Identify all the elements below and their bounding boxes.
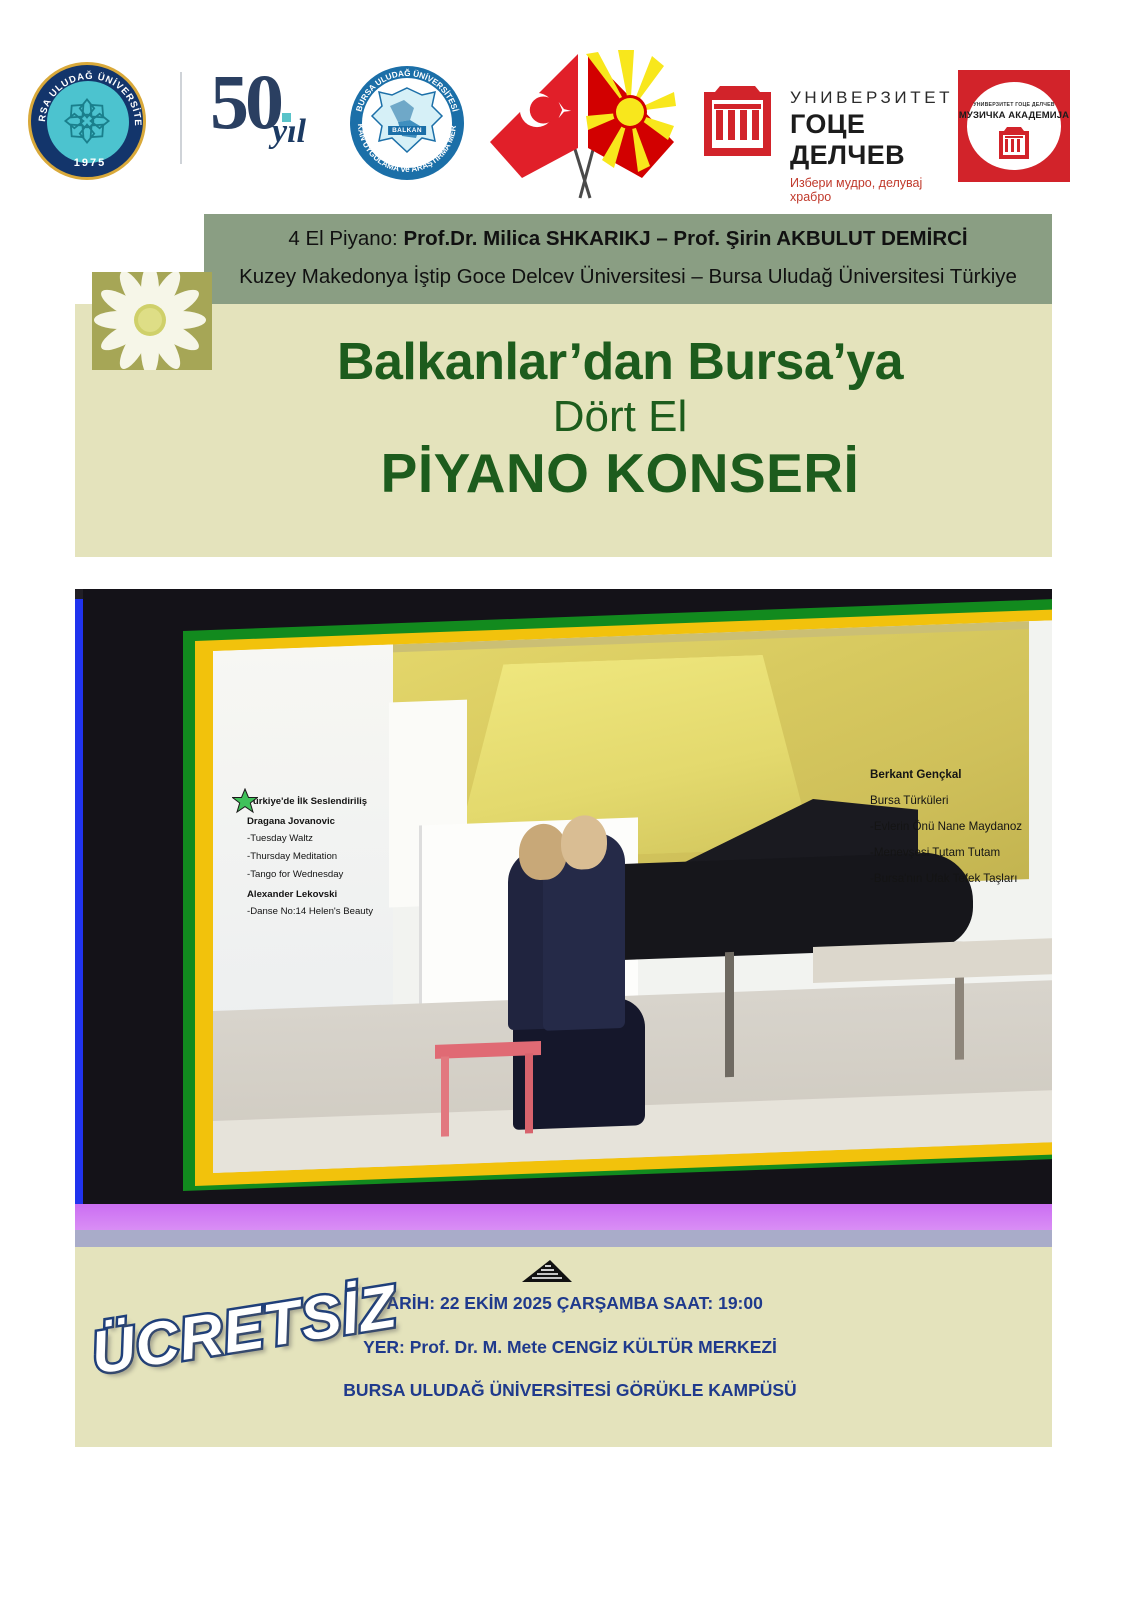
daisy-flower-icon — [92, 272, 212, 370]
composer-1-name: Dragana Jovanovic — [247, 813, 477, 831]
composer-1-work-1: -Tuesday Waltz — [247, 830, 477, 848]
performers-prefix: 4 El Piyano: — [288, 227, 403, 250]
program-left: Türkiye'de İlk Seslendiriliş Dragana Jov… — [247, 793, 477, 921]
logo-bar: BURSA ULUDAĞ ÜNİVERSİTESİ — [0, 0, 1131, 210]
composer-1-work-3: -Tango for Wednesday — [247, 866, 477, 884]
turkey-north-macedonia-flags-icon — [482, 50, 682, 200]
page-title: Balkanlar’dan Bursa’ya Dört El PİYANO KO… — [205, 334, 1035, 504]
mountain-logo-icon — [512, 1258, 574, 1284]
photo-glitch-bar-violet — [75, 1204, 1052, 1230]
composer-2-name: Alexander Lekovski — [247, 886, 477, 904]
50-yil-anniversary-logo: 50 50 yıl — [210, 68, 350, 180]
title-line-3: PİYANO KONSERİ — [205, 443, 1035, 504]
goce-delcev-building-icon — [700, 80, 775, 168]
gd-line-name: ГОЦЕ ДЕЛЧЕВ — [790, 109, 950, 171]
gd-line-universitet: УНИВЕРЗИТЕТ — [790, 88, 950, 108]
fifty-dot-icon — [282, 113, 291, 122]
composer-2-work-1: -Danse No:14 Helen's Beauty — [247, 903, 477, 921]
title-line-1: Balkanlar’dan Bursa’ya — [205, 334, 1035, 390]
performers-names: Prof.Dr. Milica SHKARIKJ – Prof. Şirin A… — [403, 227, 967, 250]
collection-title: Bursa Türküleri — [870, 788, 1070, 814]
academy-line2: МУЗИЧКА АКАДЕМИЈА — [958, 110, 1070, 121]
event-campus-line: BURSA ULUDAĞ ÜNİVERSİTESİ GÖRÜKLE KAMPÜS… — [180, 1382, 960, 1400]
balkan-map-icon — [370, 86, 444, 160]
buu-founding-year: 1975 — [31, 157, 149, 169]
header-band: 4 El Piyano: Prof.Dr. Milica SHKARIKJ – … — [204, 214, 1052, 304]
logo-divider — [180, 72, 182, 164]
academy-building-icon — [998, 126, 1030, 164]
bursa-uludag-universitesi-logo: BURSA ULUDAĞ ÜNİVERSİTESİ — [28, 62, 154, 188]
composer-3-name: Berkant Gençkal — [870, 762, 1070, 788]
photo-glitch-bar-gray — [75, 1230, 1052, 1247]
goce-delcev-university-wordmark: УНИВЕРЗИТЕТ ГОЦЕ ДЕЛЧЕВ Избери мудро, де… — [790, 88, 950, 204]
title-panel: Balkanlar’dan Bursa’ya Dört El PİYANO KO… — [75, 304, 1052, 557]
muzicka-akademija-logo: УНИВЕРЗИТЕТ ГОЦЕ ДЕЛЧЕВ МУЗИЧКА АКАДЕМИЈ… — [958, 70, 1070, 182]
composer-1-work-2: -Thursday Meditation — [247, 848, 477, 866]
fifty-number: 50 — [210, 58, 280, 145]
performers-line: 4 El Piyano: Prof.Dr. Milica SHKARIKJ – … — [288, 227, 967, 251]
balkan-center-label: BALKAN — [388, 126, 426, 135]
composer-3-work-3: -Bursa'nın Ufak Tefek Taşları — [870, 866, 1070, 892]
program-right: Berkant Gençkal Bursa Türküleri -Evlerin… — [870, 762, 1070, 892]
composer-3-work-1: -Evlerin Önü Nane Maydanoz — [870, 814, 1070, 840]
premiere-note: Türkiye'de İlk Seslendiriliş — [247, 793, 477, 811]
title-line-2: Dört El — [205, 392, 1035, 441]
composer-3-work-2: -Menevşesi Tutam Tutam — [870, 840, 1070, 866]
concert-poster: BURSA ULUDAĞ ÜNİVERSİTESİ — [0, 0, 1131, 1599]
academy-line1: УНИВЕРЗИТЕТ ГОЦЕ ДЕЛЧЕВ — [958, 102, 1070, 108]
concert-photo — [75, 589, 1052, 1247]
institutions-line: Kuzey Makedonya İştip Goce Delcev Üniver… — [239, 265, 1017, 289]
geometric-rosette-icon — [60, 94, 114, 148]
gd-slogan: Избери мудро, делувај храбро — [790, 176, 950, 204]
star-icon — [232, 788, 258, 814]
balkan-arastirma-merkezi-logo: BURSA ULUDAĞ ÜNİVERSİTESİ BALKAN UYGULAM… — [350, 66, 470, 186]
